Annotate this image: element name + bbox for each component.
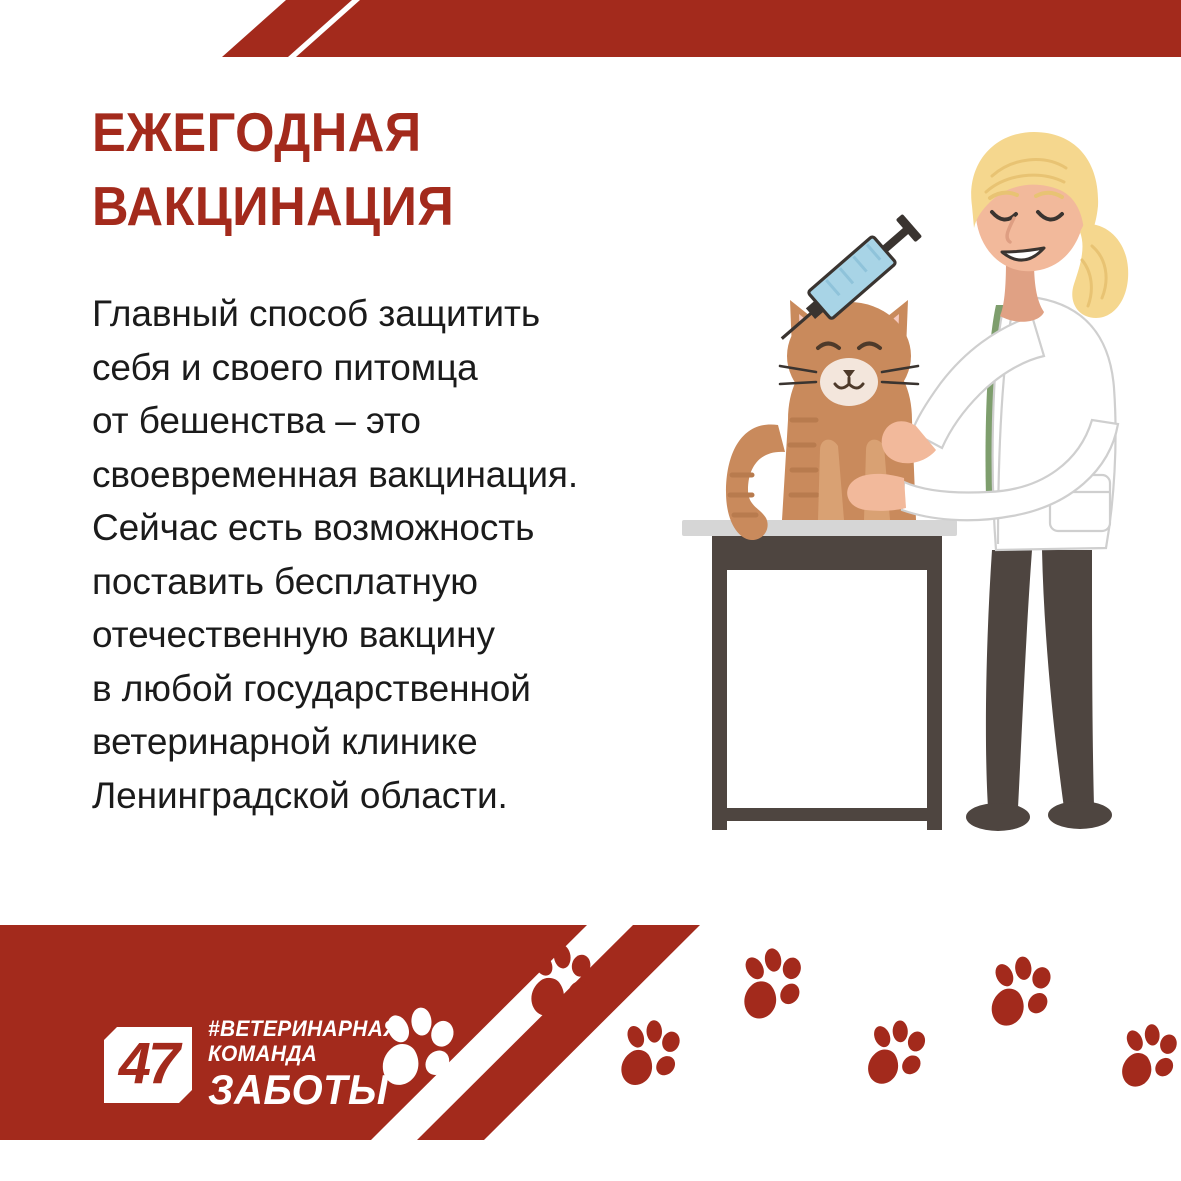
table-top (682, 520, 957, 536)
paragraph-line: Главный способ защитить (92, 287, 692, 341)
paragraph-line: от бешенства – это (92, 394, 692, 448)
footer-red-paw-icon (521, 938, 602, 1018)
table-crossbar (712, 808, 942, 821)
paragraph-line: себя и своего питомца (92, 341, 692, 395)
logo-number: 47 (104, 1027, 192, 1103)
paragraph-line: поставить бесплатную (92, 555, 692, 609)
body-paragraph: Главный способ защитить себя и своего пи… (92, 287, 692, 822)
top-diagonal-stripe (222, 0, 352, 57)
logo-47-badge: 47 (104, 1027, 192, 1103)
logo-line-2: КОМАНДА (208, 1043, 399, 1065)
page-title: ЕЖЕГОДНАЯ ВАКЦИНАЦИЯ (92, 95, 732, 243)
title-line-2: ВАКЦИНАЦИЯ (92, 169, 681, 243)
footer-red-paw-icon (616, 1017, 687, 1086)
paragraph-line: отечественную вакцину (92, 608, 692, 662)
paragraph-line: ветеринарной клинике (92, 715, 692, 769)
doctor-shoe-left (966, 803, 1030, 831)
footer-red-paw-icon (863, 1017, 932, 1085)
footer-red-paw-icon (983, 951, 1061, 1028)
title-line-1: ЕЖЕГОДНАЯ (92, 95, 681, 169)
footer-diagonal-stripe (417, 925, 700, 1140)
doctor-leg-right (1042, 550, 1094, 808)
doctor-lower-hand (847, 474, 906, 511)
table-leg-left (712, 560, 727, 830)
footer-red-paw-icon (1116, 1020, 1181, 1088)
paragraph-line: в любой государственной (92, 662, 692, 716)
vet-illustration (640, 120, 1181, 850)
paragraph-line: своевременная вакцинация. (92, 448, 692, 502)
doctor-shoe-right (1048, 801, 1112, 829)
poster-canvas: ЕЖЕГОДНАЯ ВАКЦИНАЦИЯ Главный способ защи… (0, 0, 1181, 1181)
logo-wordmark: #ВЕТЕРИНАРНАЯ КОМАНДА ЗАБОТЫ (208, 1018, 409, 1111)
logo-line-1: #ВЕТЕРИНАРНАЯ (208, 1018, 399, 1040)
paragraph-line: Ленинградской области. (92, 769, 692, 823)
doctor-ponytail (1072, 224, 1128, 318)
paragraph-line: Сейчас есть возможность (92, 501, 692, 555)
logo-line-3: ЗАБОТЫ (208, 1069, 399, 1111)
brand-logo[interactable]: 47 #ВЕТЕРИНАРНАЯ КОМАНДА ЗАБОТЫ (104, 1018, 409, 1111)
examination-table (682, 520, 957, 830)
table-leg-right (927, 560, 942, 830)
top-red-block (296, 0, 1181, 57)
footer-red-paw-icon (733, 941, 814, 1021)
doctor-leg-left (986, 550, 1032, 808)
